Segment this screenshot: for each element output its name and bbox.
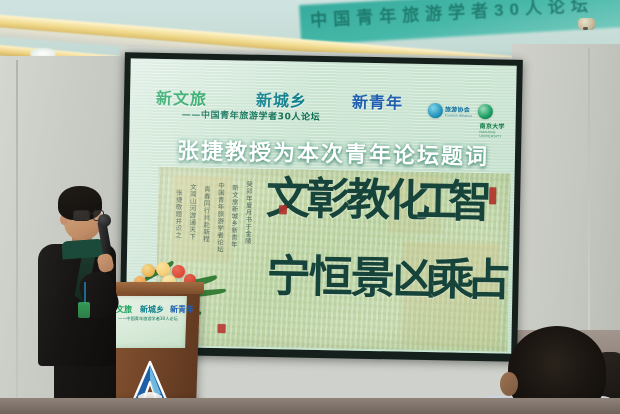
university-logo-mark <box>478 104 493 119</box>
name-badge <box>78 302 90 318</box>
tourism-logo-text: 旅游协会 Tourism Alliance <box>445 105 473 119</box>
tourism-logo-en: Tourism Alliance <box>445 114 473 119</box>
glasses-icon <box>73 210 90 221</box>
tourism-association-logo: 旅游协会 Tourism Alliance <box>428 102 473 121</box>
conference-photo-scene: 中国青年旅游学者30人论坛 新文旅 新城乡 新青年 ——中国青年旅游学者30人论… <box>0 0 620 414</box>
audience-ear <box>500 372 518 396</box>
seal-char: 教 <box>346 178 391 223</box>
wall-seam-left <box>16 60 18 414</box>
university-logo: 南京大学 NANJING UNIVERSITY <box>477 103 516 140</box>
flower-bloom <box>142 264 155 277</box>
wall-seam-right <box>588 48 590 348</box>
tourism-logo-mark <box>428 103 443 118</box>
podium-slogan-2: 新城乡 <box>140 304 164 315</box>
podium-slogan-3: 新青年 <box>170 304 194 315</box>
seal-char: 占 <box>466 259 510 304</box>
smoke-detector-led <box>583 27 588 30</box>
floor <box>0 398 620 414</box>
red-seal-stamp <box>489 187 496 204</box>
university-logo-en: NANJING UNIVERSITY <box>479 130 515 139</box>
banner-slogan-3: 新青年 <box>352 89 403 114</box>
university-logo-text: 南京大学 NANJING UNIVERSITY <box>479 121 515 139</box>
lanyard <box>84 282 86 304</box>
flower-bloom <box>156 262 170 276</box>
speaker-presenter <box>32 186 136 414</box>
seal-char: 智 <box>448 180 493 225</box>
